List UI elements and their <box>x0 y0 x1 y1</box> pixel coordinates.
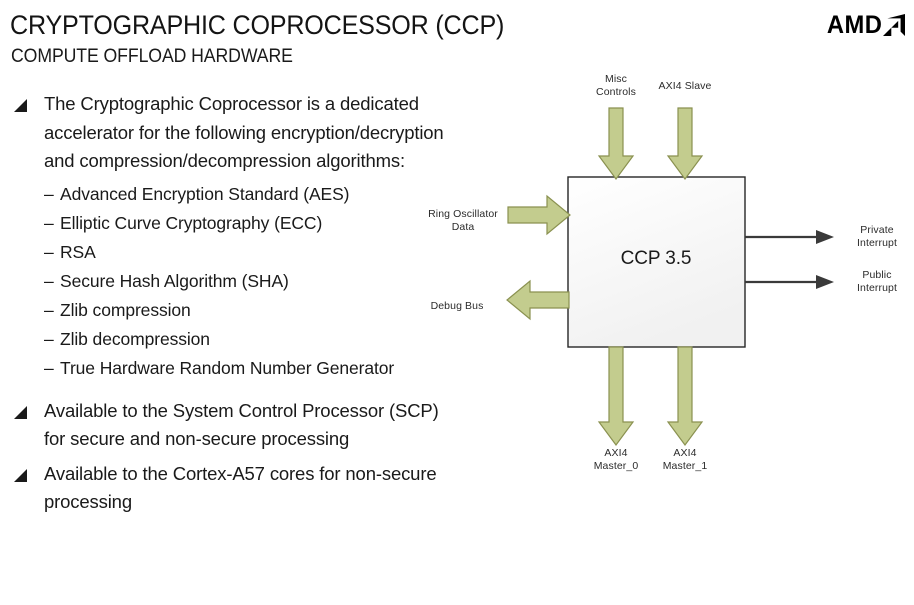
dash-bullet-icon: – <box>44 325 60 354</box>
label-private-interrupt: Private Interrupt <box>840 224 914 250</box>
label-ring-oscillator-data: Ring Oscillator Data <box>418 208 508 234</box>
list-item-label: Zlib decompression <box>60 325 210 354</box>
ccp-block-label: CCP 3.5 <box>568 248 744 270</box>
amd-logo-text: AMD <box>826 13 882 38</box>
arrow-axi4-master-0 <box>599 347 633 445</box>
list-item-label: True Hardware Random Number Generator <box>60 354 394 383</box>
amd-logo: AMD <box>787 11 905 39</box>
arrowhead-public-interrupt <box>816 275 834 289</box>
label-axi4-slave: AXI4 Slave <box>645 80 725 93</box>
page-subtitle: COMPUTE OFFLOAD HARDWARE <box>11 45 293 68</box>
list-item-label: Zlib compression <box>60 296 191 325</box>
list-item-label: Advanced Encryption Standard (AES) <box>60 180 349 209</box>
triangle-bullet-icon <box>14 90 36 112</box>
arrow-misc-controls <box>599 108 633 179</box>
triangle-bullet-icon <box>14 460 36 482</box>
label-public-interrupt: Public Interrupt <box>840 269 914 295</box>
label-axi4-master-0: AXI4 Master_0 <box>581 447 651 473</box>
arrowhead-private-interrupt <box>816 230 834 244</box>
list-item-label: Available to the Cortex-A57 cores for no… <box>44 460 459 517</box>
label-misc-controls: Misc Controls <box>581 73 651 99</box>
arrow-debug-bus <box>507 281 569 319</box>
label-axi4-master-1: AXI4 Master_1 <box>650 447 720 473</box>
list-item-label: Elliptic Curve Cryptography (ECC) <box>60 209 322 238</box>
amd-arrow-icon <box>883 14 905 36</box>
dash-bullet-icon: – <box>44 354 60 383</box>
arrow-axi4-slave <box>668 108 702 179</box>
list-item-label: Secure Hash Algorithm (SHA) <box>60 267 289 296</box>
dash-bullet-icon: – <box>44 209 60 238</box>
ccp-block-diagram: CCP 3.5 Misc Controls AXI4 Slave Ring Os… <box>400 55 914 480</box>
arrow-axi4-master-1 <box>668 347 702 445</box>
dash-bullet-icon: – <box>44 267 60 296</box>
list-item-label: RSA <box>60 238 96 267</box>
list-item-label: Available to the System Control Processo… <box>44 397 459 454</box>
label-debug-bus: Debug Bus <box>412 300 502 313</box>
triangle-bullet-icon <box>14 397 36 419</box>
page-title: CRYPTOGRAPHIC COPROCESSOR (CCP) <box>10 9 504 41</box>
list-item-label: The Cryptographic Coprocessor is a dedic… <box>44 90 459 176</box>
dash-bullet-icon: – <box>44 180 60 209</box>
dash-bullet-icon: – <box>44 238 60 267</box>
dash-bullet-icon: – <box>44 296 60 325</box>
arrow-ring-oscillator-data <box>508 196 570 234</box>
